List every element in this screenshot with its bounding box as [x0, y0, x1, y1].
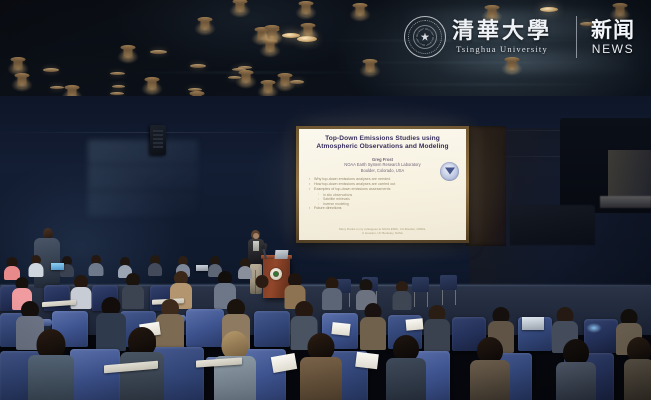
- chair-leg: [442, 290, 443, 305]
- audience-laptop: [196, 265, 208, 271]
- chair-leg: [455, 290, 456, 305]
- audience-member: [4, 257, 20, 279]
- audience-laptop: [51, 263, 64, 270]
- audience-member: [470, 337, 510, 400]
- ceiling-light-disc: [43, 68, 59, 72]
- audience-member: [252, 275, 272, 309]
- right-ledge: [600, 196, 651, 208]
- phone-screen-glow: [586, 323, 602, 333]
- right-wall-panel: [608, 150, 651, 200]
- audience-member: [148, 255, 162, 275]
- slide-bullet: Future directions: [310, 206, 457, 211]
- projection-screen: Top-Down Emissions Studies using Atmosph…: [296, 126, 469, 243]
- audience-area: [0, 255, 651, 400]
- auditorium-seat: [254, 311, 290, 347]
- audience-member: [238, 258, 252, 278]
- slide-bullet-list: Why top-down emissions analyses are need…: [299, 173, 466, 212]
- audience-member: [392, 281, 411, 309]
- handout-paper: [271, 353, 297, 373]
- wall-light-patch: [88, 140, 198, 216]
- ceiling-light-disc: [110, 92, 124, 95]
- audience-member: [322, 277, 342, 309]
- lecture-hall-photo: Top-Down Emissions Studies using Atmosph…: [0, 0, 651, 400]
- handout-paper: [406, 318, 424, 330]
- audience-member: [624, 337, 651, 400]
- audience-member: [28, 255, 43, 277]
- ceiling-light-disc: [112, 85, 125, 88]
- audience-member: [556, 339, 596, 400]
- audience-member: [300, 333, 342, 400]
- empty-chair: [440, 275, 457, 290]
- auditorium-seat: [44, 285, 70, 311]
- slide-footer-line2: U Houston, UC Berkeley, NASA: [311, 232, 454, 236]
- empty-chair: [412, 277, 429, 292]
- ceiling-light-disc: [50, 86, 64, 89]
- ceiling-light-disc: [580, 22, 595, 26]
- stage-curtain-panel: [466, 126, 506, 246]
- wall-mounted-speaker: [150, 125, 166, 155]
- slide-title: Top-Down Emissions Studies using Atmosph…: [299, 129, 466, 152]
- audience-member: [386, 335, 426, 400]
- ceiling-light-disc: [150, 50, 167, 54]
- audience-member: [88, 255, 103, 275]
- audience-laptop: [522, 317, 544, 330]
- ceiling-light-disc: [290, 80, 304, 84]
- chair-leg: [414, 292, 415, 307]
- presenter-shirt: [253, 241, 259, 251]
- audience-member: [360, 303, 386, 349]
- audience-member: [424, 305, 450, 351]
- slide-title-line1: Top-Down Emissions Studies using: [306, 135, 459, 143]
- ceiling-light-disc: [540, 7, 558, 12]
- presentation-slide: Top-Down Emissions Studies using Atmosph…: [299, 129, 466, 240]
- auditorium-seat: [70, 349, 120, 400]
- audience-member: [28, 329, 74, 400]
- handout-paper: [355, 352, 379, 370]
- stage-equipment: [510, 205, 595, 245]
- ceiling-light-disc: [297, 36, 317, 42]
- slide-footer: Many thanks to my colleagues at NOAA ESR…: [299, 228, 466, 236]
- ceiling-light-disc: [110, 72, 125, 75]
- chair-leg: [349, 293, 350, 307]
- slide-title-line2: Atmospheric Observations and Modeling: [306, 143, 459, 151]
- ceiling-light-disc: [190, 64, 206, 68]
